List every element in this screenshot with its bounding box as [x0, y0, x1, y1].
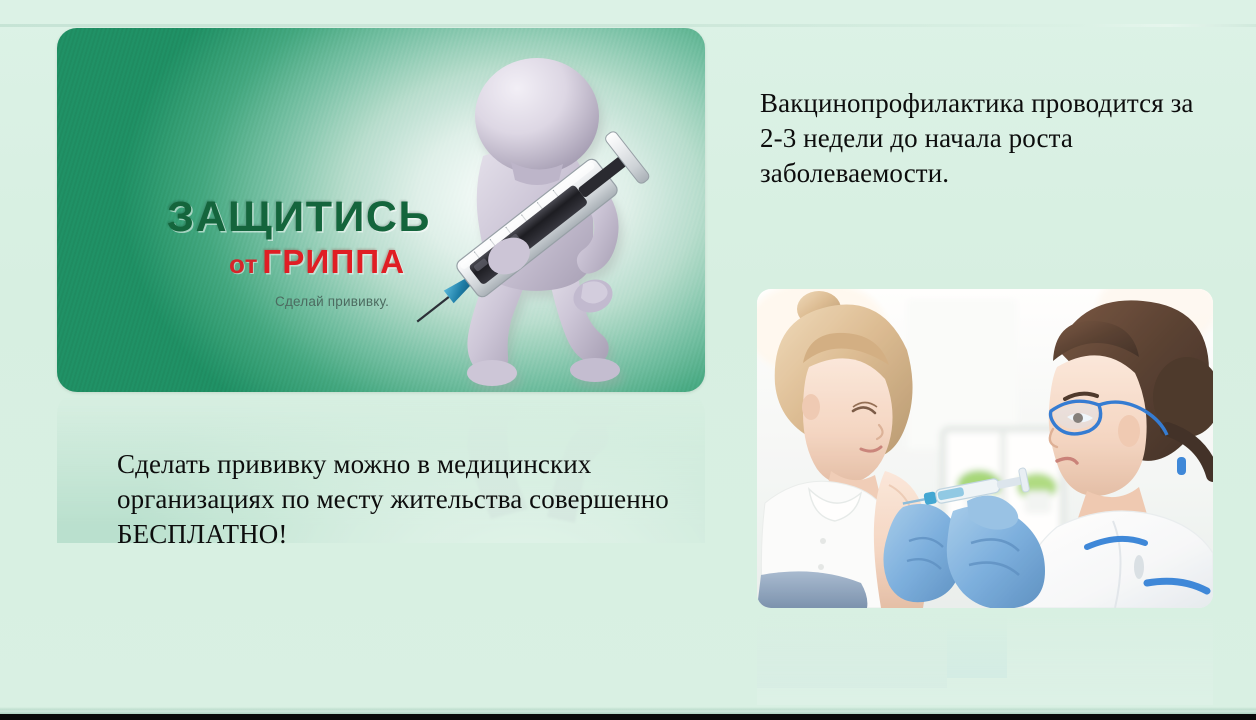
vaccination-photo: [757, 289, 1213, 608]
slide-canvas: ЗАЩИТИСЬ от ГРИППА Сделай прививку.: [0, 0, 1256, 720]
bottom-footer-strip: [0, 714, 1256, 720]
bottom-left-paragraph: Сделать прививку можно в медицинских орг…: [117, 447, 677, 552]
poster-headline-secondary: от ГРИППА: [167, 245, 497, 278]
poster-headline-secondary-small: от: [229, 249, 258, 279]
bottom-hairline: [0, 707, 1256, 714]
poster-headline-primary: ЗАЩИТИСЬ: [167, 196, 497, 239]
text-block-bottom-left: Сделать прививку можно в медицинских орг…: [117, 447, 677, 552]
poster-container[interactable]: ЗАЩИТИСЬ от ГРИППА Сделай прививку.: [57, 28, 705, 392]
top-divider-line: [0, 24, 1256, 27]
poster-card: ЗАЩИТИСЬ от ГРИППА Сделай прививку.: [57, 28, 705, 392]
poster-text-group: ЗАЩИТИСЬ от ГРИППА Сделай прививку.: [167, 196, 497, 309]
photo-container[interactable]: [757, 289, 1213, 608]
photo-reflection: [757, 609, 1213, 705]
poster-tagline: Сделай прививку.: [167, 294, 497, 309]
text-block-top-right: Вакцинопрофилактика проводится за 2-3 не…: [760, 86, 1210, 191]
top-right-paragraph: Вакцинопрофилактика проводится за 2-3 не…: [760, 86, 1210, 191]
poster-headline-secondary-big: ГРИППА: [262, 243, 405, 280]
